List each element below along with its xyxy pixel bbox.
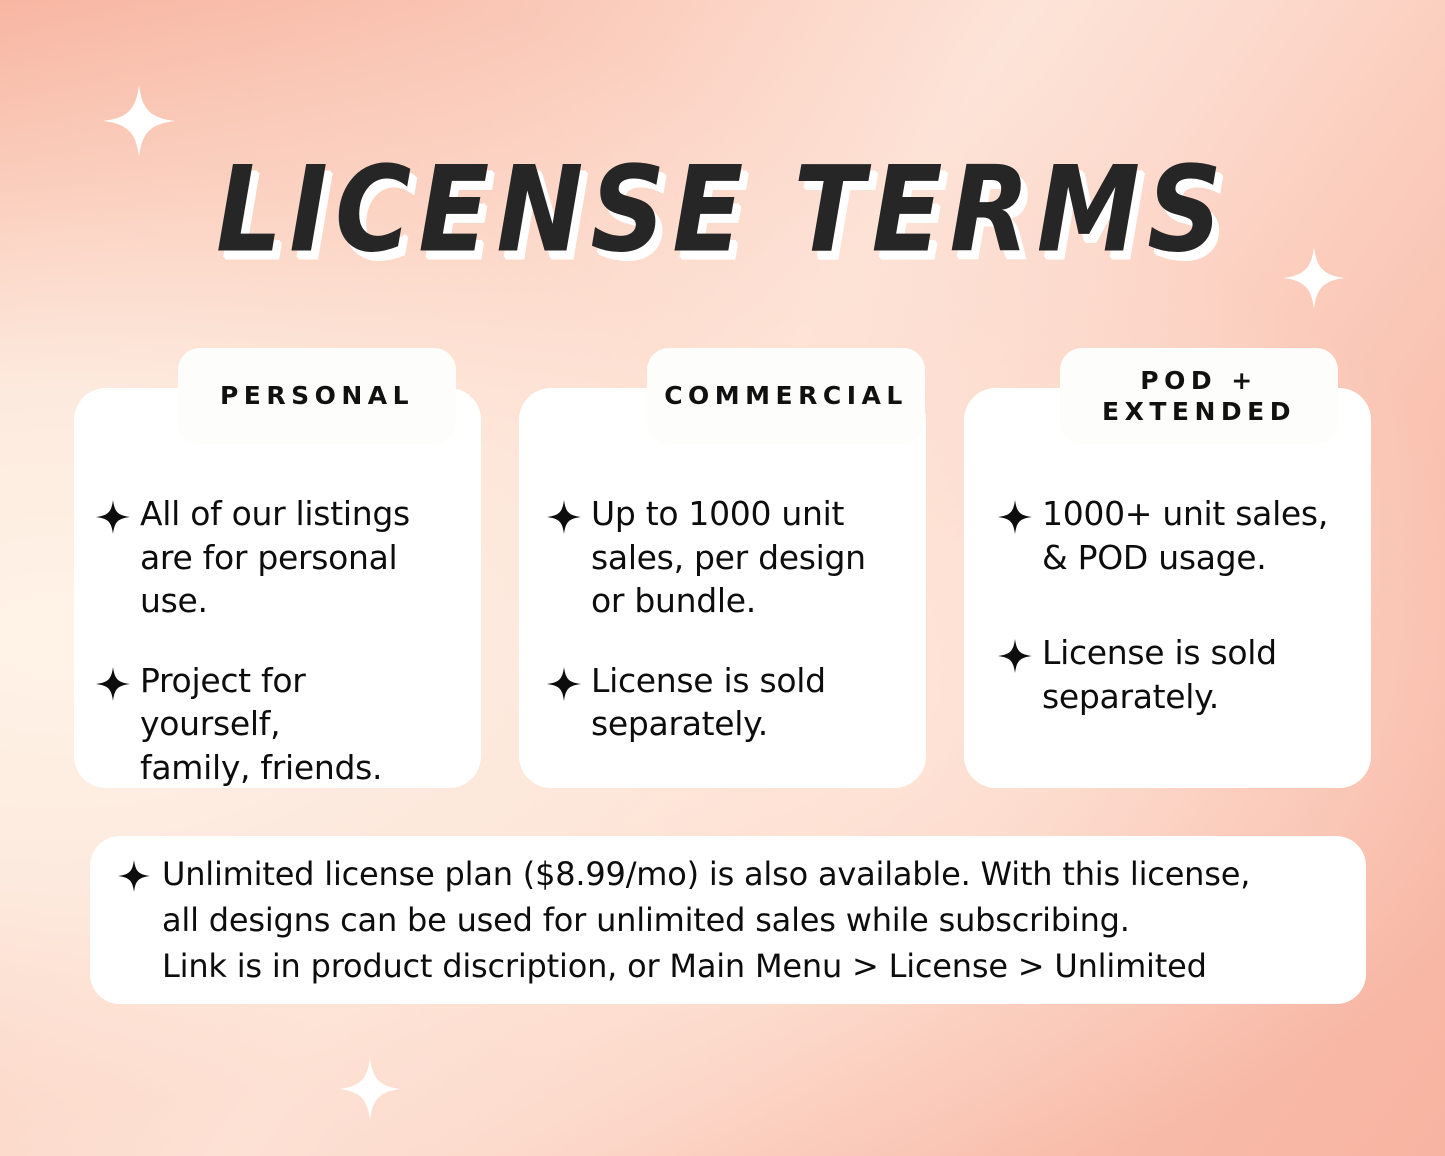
plan-badge-label: POD + EXTENDED <box>1102 365 1296 428</box>
plan-card-list: PERSONAL All of our listings are for per… <box>74 388 1371 788</box>
list-item-text: All of our listings are for personal use… <box>140 492 410 623</box>
list-item: Up to 1000 unit sales, per design or bun… <box>547 492 900 623</box>
plan-badge-pod-extended: POD + EXTENDED <box>1060 348 1338 444</box>
plan-badge-label: PERSONAL <box>220 380 414 411</box>
plan-card-commercial: COMMERCIAL Up to 1000 unit sales, per de… <box>519 388 926 788</box>
plan-card-personal: PERSONAL All of our listings are for per… <box>74 388 481 788</box>
plan-badge-personal: PERSONAL <box>178 348 456 444</box>
list-item: All of our listings are for personal use… <box>96 492 455 623</box>
four-point-star-icon <box>96 667 130 701</box>
list-item: Unlimited license plan ($8.99/mo) is als… <box>118 851 1250 989</box>
list-item-text: Project for yourself, family, friends. <box>140 659 455 790</box>
list-item-text: Up to 1000 unit sales, per design or bun… <box>591 492 866 623</box>
list-item: License is sold separately. <box>998 631 1345 718</box>
plan-badge-commercial: COMMERCIAL <box>647 348 925 444</box>
list-item-text: License is sold separately. <box>591 659 826 746</box>
unlimited-plan-banner: Unlimited license plan ($8.99/mo) is als… <box>90 836 1366 1004</box>
plan-card-pod-extended: POD + EXTENDED 1000+ unit sales, & POD u… <box>964 388 1371 788</box>
page-title-wrap: LICENSE TERMS <box>0 150 1445 254</box>
four-point-star-icon <box>998 500 1032 534</box>
list-item: Project for yourself, family, friends. <box>96 659 455 790</box>
four-point-star-icon <box>998 639 1032 673</box>
four-point-star-icon <box>547 500 581 534</box>
list-item: 1000+ unit sales, & POD usage. <box>998 492 1345 579</box>
list-item: License is sold separately. <box>547 659 900 746</box>
plan-body-pod-extended: 1000+ unit sales, & POD usage. License i… <box>964 474 1371 718</box>
four-point-star-icon <box>547 667 581 701</box>
list-item-text: License is sold separately. <box>1042 631 1277 718</box>
plan-body-personal: All of our listings are for personal use… <box>74 474 481 789</box>
unlimited-plan-text: Unlimited license plan ($8.99/mo) is als… <box>162 851 1250 989</box>
four-point-star-icon <box>96 500 130 534</box>
four-point-star-icon <box>118 860 150 892</box>
page-title: LICENSE TERMS <box>216 150 1229 269</box>
plan-body-commercial: Up to 1000 unit sales, per design or bun… <box>519 474 926 746</box>
plan-badge-label: COMMERCIAL <box>664 380 908 411</box>
list-item-text: 1000+ unit sales, & POD usage. <box>1042 492 1328 579</box>
